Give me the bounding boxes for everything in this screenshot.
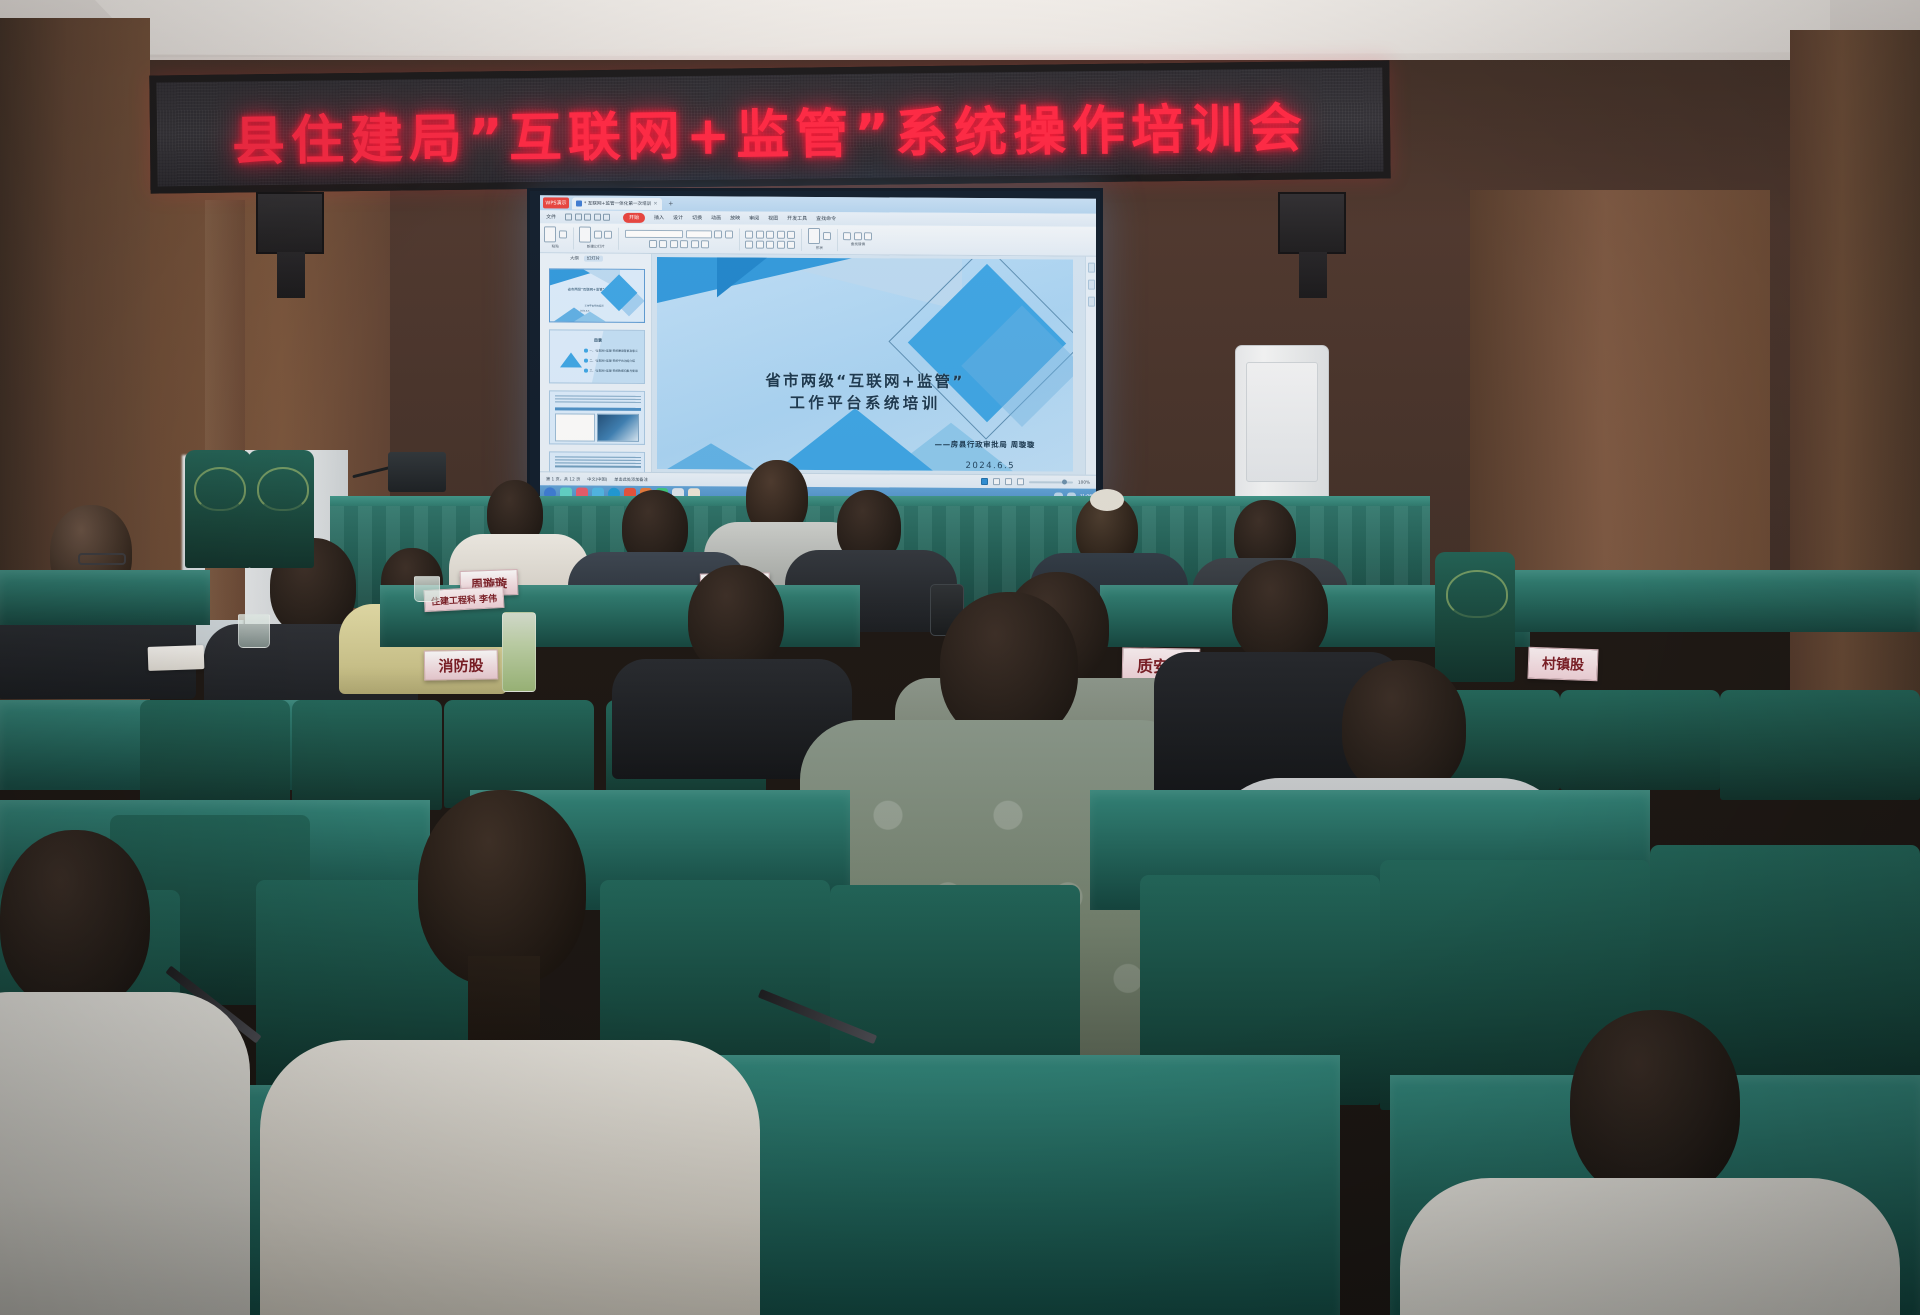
arrange-icon[interactable] <box>823 232 831 240</box>
ribbon-divider-5 <box>837 229 838 251</box>
attendee-head <box>0 830 150 1010</box>
thumb-image <box>597 414 639 442</box>
align-left-icon[interactable] <box>745 240 753 248</box>
ribbon-group-paste-label: 粘贴 <box>552 244 559 249</box>
layout-icon[interactable] <box>594 231 602 239</box>
ribbon-group-paragraph[interactable] <box>745 230 795 248</box>
menu-slideshow[interactable]: 放映 <box>730 214 740 221</box>
close-icon[interactable]: ✕ <box>653 200 657 206</box>
audience-chair-r3-a <box>140 700 290 810</box>
conference-room-scene: 县住建局”互联网+监管”系统操作培训会 WPS演示 * 互联网+监管一体化第一次… <box>0 0 1920 1315</box>
menu-insert[interactable]: 插入 <box>654 214 664 221</box>
decrease-indent-icon[interactable] <box>766 230 774 238</box>
thumb2-bullet-1: 一、“互联网+监管”系统建设背景及意义 <box>584 349 638 353</box>
ribbon-group-shape[interactable]: 形状 <box>808 228 831 251</box>
water-cup-mid <box>414 576 440 602</box>
design-idea-icon[interactable] <box>1088 263 1095 273</box>
undo-icon[interactable] <box>594 214 601 221</box>
notes-placeholder[interactable]: 单击此处添加备注 <box>614 476 648 482</box>
hair-tie <box>1090 489 1124 511</box>
slide-editing-pane[interactable]: 省市两级“互联网+监管” 工作平台系统培训 ——房县行政审批局 周璇璇 2024… <box>652 254 1096 475</box>
replace-icon[interactable] <box>854 232 862 240</box>
attendee-head <box>1232 560 1328 664</box>
menu-file[interactable]: 文件 <box>546 213 556 220</box>
wps-logo: WPS演示 <box>543 197 569 208</box>
menu-home[interactable]: 开始 <box>623 212 645 222</box>
water-cup-left <box>238 614 270 648</box>
bold-icon[interactable] <box>649 239 657 247</box>
attendee-head <box>688 565 784 673</box>
slide-side-toolbar[interactable] <box>1085 257 1096 475</box>
thumb2-bullet-3: 三、“互联网+监管”系统数据归集与使用 <box>584 369 638 373</box>
projection-screen: WPS演示 * 互联网+监管一体化第一次培训 ✕ + 文件 开始 插入 设计 切… <box>527 188 1103 506</box>
loudspeaker-left <box>256 192 324 254</box>
print-icon[interactable] <box>575 214 582 221</box>
align-right-icon[interactable] <box>766 240 774 248</box>
attendee-head <box>1342 660 1466 796</box>
ribbon-group-find[interactable]: 查找替换 <box>843 232 872 247</box>
attendee-torso <box>0 992 250 1315</box>
slide-thumbnail-1[interactable]: 1 省市两级“互联网+监管” 工作平台系统培训 2024.6.5 <box>549 268 645 323</box>
find-icon[interactable] <box>843 232 851 240</box>
audience-chair-r3-h <box>1560 690 1720 790</box>
justify-icon[interactable] <box>777 240 785 248</box>
attendee-front-ponytail <box>300 790 720 1315</box>
ribbon-divider-3 <box>739 228 740 250</box>
wps-ribbon: 粘贴 新建幻灯片 <box>540 223 1096 256</box>
slide-date: 2024.6.5 <box>966 461 1015 471</box>
ribbon-group-shape-label: 形状 <box>816 246 823 251</box>
numbering-icon[interactable] <box>756 230 764 238</box>
wall-chair-1 <box>185 450 251 568</box>
columns-icon[interactable] <box>787 240 795 248</box>
eyeglasses <box>78 553 126 565</box>
slide-title-line-2: 工作平台系统培训 <box>657 391 1073 416</box>
slide-shape-triangle-accent <box>717 257 767 297</box>
thumb1-title: 省市两级“互联网+监管” <box>560 287 612 292</box>
nameplate-3: 消防股 <box>424 649 499 680</box>
thumb1-date: 2024.6.5 <box>580 310 589 313</box>
font-family-input[interactable] <box>625 229 683 237</box>
ribbon-divider <box>573 227 574 249</box>
attendee-center-dark <box>630 565 830 755</box>
grow-font-icon[interactable] <box>714 230 722 238</box>
wall-chair-2 <box>248 450 314 568</box>
nameplate-6: 村镇股 <box>1527 647 1598 681</box>
thumb-text-lines <box>555 456 641 469</box>
audience-chair-r3-i <box>1720 690 1920 800</box>
thumb2-bullet-2: 二、“互联网+监管”系统平台功能介绍 <box>584 359 635 363</box>
ceiling-recess <box>95 0 1830 62</box>
menu-animation[interactable]: 动画 <box>711 214 721 221</box>
text-effect-icon[interactable] <box>701 240 709 248</box>
save-icon[interactable] <box>565 213 572 220</box>
loudspeaker-right-stem <box>1299 252 1327 298</box>
language-indicator[interactable]: 中文(中国) <box>587 476 607 482</box>
current-slide[interactable]: 省市两级“互联网+监管” 工作平台系统培训 ——房县行政审批局 周璇璇 2024… <box>657 257 1073 472</box>
menu-view[interactable]: 视图 <box>768 215 778 222</box>
ribbon-group-paste[interactable]: 粘贴 <box>544 226 567 249</box>
thumb1-subtitle: 工作平台系统培训 <box>568 303 620 307</box>
attendee-torso <box>1400 1178 1900 1315</box>
attendee-head <box>1570 1010 1740 1200</box>
attendee-bottom-left <box>0 830 220 1315</box>
audience-table-r2-far-right <box>1500 570 1920 632</box>
wps-tab-title: * 互联网+监管一体化第一次培训 <box>584 200 651 206</box>
ribbon-divider-2 <box>618 227 619 249</box>
increase-indent-icon[interactable] <box>777 230 785 238</box>
paste-icon[interactable] <box>544 226 556 242</box>
led-banner-text: 县住建局”互联网+监管”系统操作培训会 <box>232 86 1309 175</box>
menu-developer[interactable]: 开发工具 <box>787 215 807 222</box>
line-spacing-icon[interactable] <box>787 230 795 238</box>
right-wall-panel <box>1790 30 1920 790</box>
view-normal-icon[interactable] <box>981 478 988 485</box>
slide-title-line-1: 省市两级“互联网+监管” <box>765 372 964 391</box>
view-sorter-icon[interactable] <box>993 478 1000 485</box>
format-pane-icon[interactable] <box>1088 280 1095 290</box>
preview-icon[interactable] <box>584 214 591 221</box>
thumb-text-lines <box>555 395 641 404</box>
slide-presenter: ——房县行政审批局 周璇璇 <box>935 439 1035 451</box>
menu-search[interactable]: 查找命令 <box>816 215 836 222</box>
handout-papers-left <box>148 645 205 671</box>
zoom-slider[interactable] <box>1029 481 1073 483</box>
slide-thumbnail-3[interactable]: 3 <box>549 390 645 445</box>
presentation-icon <box>576 200 582 206</box>
shrink-font-icon[interactable] <box>725 230 733 238</box>
cut-icon[interactable] <box>559 230 567 238</box>
projected-desktop: WPS演示 * 互联网+监管一体化第一次培训 ✕ + 文件 开始 插入 设计 切… <box>540 195 1096 504</box>
new-slide-icon[interactable] <box>579 227 591 243</box>
ribbon-group-font[interactable] <box>625 229 733 248</box>
slides-tab[interactable]: 幻灯片 <box>584 256 603 262</box>
thumb-content-box <box>555 413 595 441</box>
slide-thumbnail-2[interactable]: 2 目录 一、“互联网+监管”系统建设背景及意义 二、“互联网+监管”系统平台功… <box>549 329 645 384</box>
ribbon-group-newslide[interactable]: 新建幻灯片 <box>579 227 612 250</box>
plus-icon[interactable]: + <box>665 199 678 208</box>
tea-tumbler <box>502 612 536 692</box>
underline-icon[interactable] <box>670 240 678 248</box>
shape-icon[interactable] <box>808 228 820 244</box>
font-color-icon[interactable] <box>691 240 699 248</box>
zoom-level[interactable]: 100% <box>1078 480 1090 485</box>
strikethrough-icon[interactable] <box>680 240 688 248</box>
view-slideshow-icon[interactable] <box>1017 478 1024 485</box>
loudspeaker-left-stem <box>277 252 305 298</box>
attendee-bottom-right <box>1440 1010 1840 1315</box>
quick-access-toolbar[interactable] <box>565 213 610 220</box>
led-screen: 县住建局”互联网+监管”系统操作培训会 <box>156 68 1383 187</box>
thumb-shape <box>574 312 606 322</box>
audience-table-r2-left <box>0 570 210 625</box>
thumbnail-pane-header: 大纲 幻灯片 <box>570 255 603 261</box>
animation-pane-icon[interactable] <box>1088 297 1095 307</box>
align-center-icon[interactable] <box>756 240 764 248</box>
menu-transition[interactable]: 切换 <box>692 214 702 221</box>
thumb-header-bar <box>555 407 641 411</box>
slide-title[interactable]: 省市两级“互联网+监管” 工作平台系统培训 <box>657 369 1073 416</box>
ribbon-group-newslide-label: 新建幻灯片 <box>587 245 605 250</box>
ribbon-divider-4 <box>801 228 802 250</box>
desk-microphone <box>388 452 446 492</box>
menu-review[interactable]: 审阅 <box>749 215 759 222</box>
slide-thumbnail-pane[interactable]: 大纲 幻灯片 1 省市两级“互联网+监管” 工作平台系统培训 2024.6.5 <box>540 253 652 472</box>
menu-design[interactable]: 设计 <box>673 214 683 221</box>
wall-wood-panel-right <box>1470 190 1770 620</box>
redo-icon[interactable] <box>603 214 610 221</box>
ac-grille <box>1246 362 1318 482</box>
attendee-torso <box>260 1040 760 1315</box>
status-bar-right: 100% <box>981 478 1090 486</box>
outline-tab[interactable]: 大纲 <box>570 255 579 261</box>
italic-icon[interactable] <box>659 240 667 248</box>
led-banner: 县住建局”互联网+监管”系统操作培训会 <box>149 60 1390 193</box>
bullets-icon[interactable] <box>745 230 753 238</box>
wps-document-tab[interactable]: * 互联网+监管一体化第一次培训 ✕ <box>572 197 662 210</box>
view-reading-icon[interactable] <box>1005 478 1012 485</box>
loudspeaker-right <box>1278 192 1346 254</box>
ribbon-group-find-label: 查找替换 <box>851 242 865 247</box>
section-icon[interactable] <box>604 231 612 239</box>
thumb-shape <box>560 352 582 367</box>
thumb2-title: 目录 <box>594 338 602 344</box>
font-size-input[interactable] <box>686 230 712 238</box>
select-icon[interactable] <box>864 232 872 240</box>
wps-workspace: 大纲 幻灯片 1 省市两级“互联网+监管” 工作平台系统培训 2024.6.5 <box>540 253 1096 474</box>
